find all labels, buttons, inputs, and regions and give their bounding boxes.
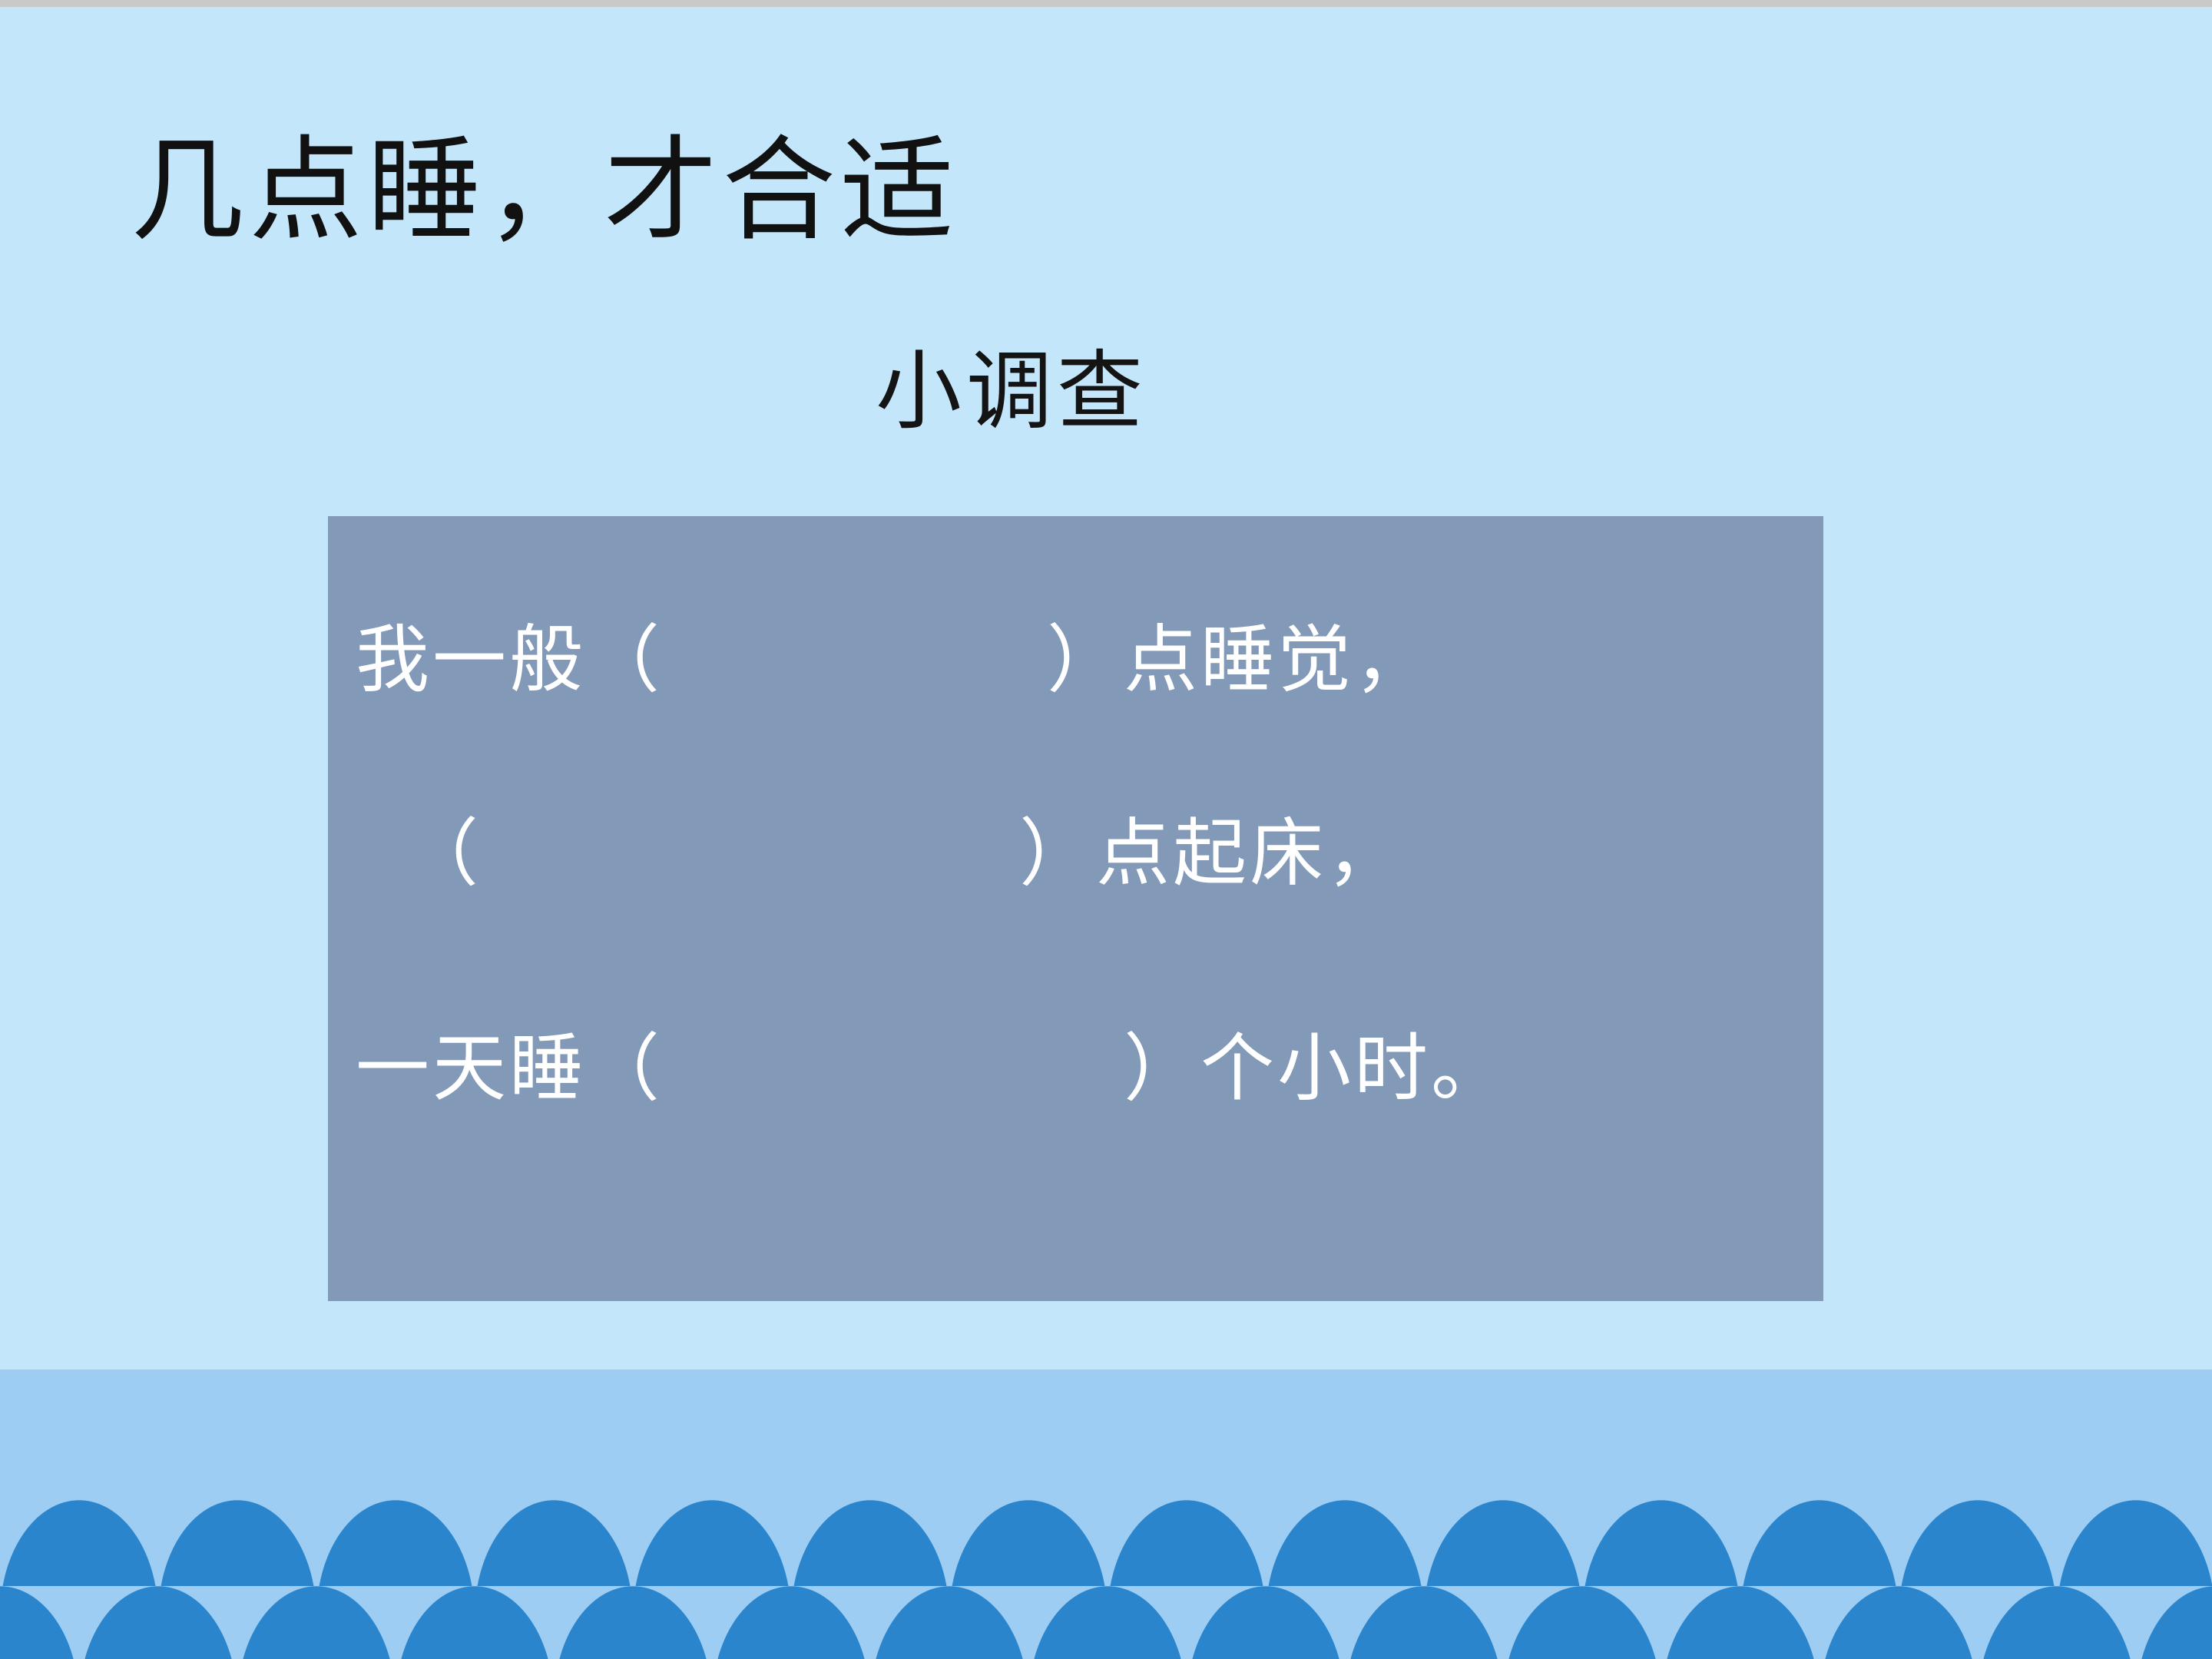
survey-line-bedtime: 我一般（ ）点睡觉， — [356, 624, 1431, 697]
scallop-row-lower — [0, 1586, 2212, 1659]
footer-decoration-band — [0, 1369, 2212, 1659]
survey-panel: 我一般（ ）点睡觉， （ ）点起床， 一天睡（ ）个小时。 — [328, 516, 1823, 1301]
survey-line-waketime: （ ）点起床， — [405, 817, 1403, 891]
slide-canvas: 几点睡，才合适 小调查 我一般（ ）点睡觉， （ ）点起床， 一天睡（ ）个小时… — [0, 0, 2212, 1659]
page-title: 几点睡，才合适 — [131, 129, 959, 257]
survey-line-duration: 一天睡（ ）个小时。 — [356, 1032, 1508, 1106]
scallop-row-upper — [0, 1500, 2212, 1586]
page-subtitle: 小调查 — [876, 346, 1147, 440]
top-edge-strip — [0, 0, 2212, 7]
